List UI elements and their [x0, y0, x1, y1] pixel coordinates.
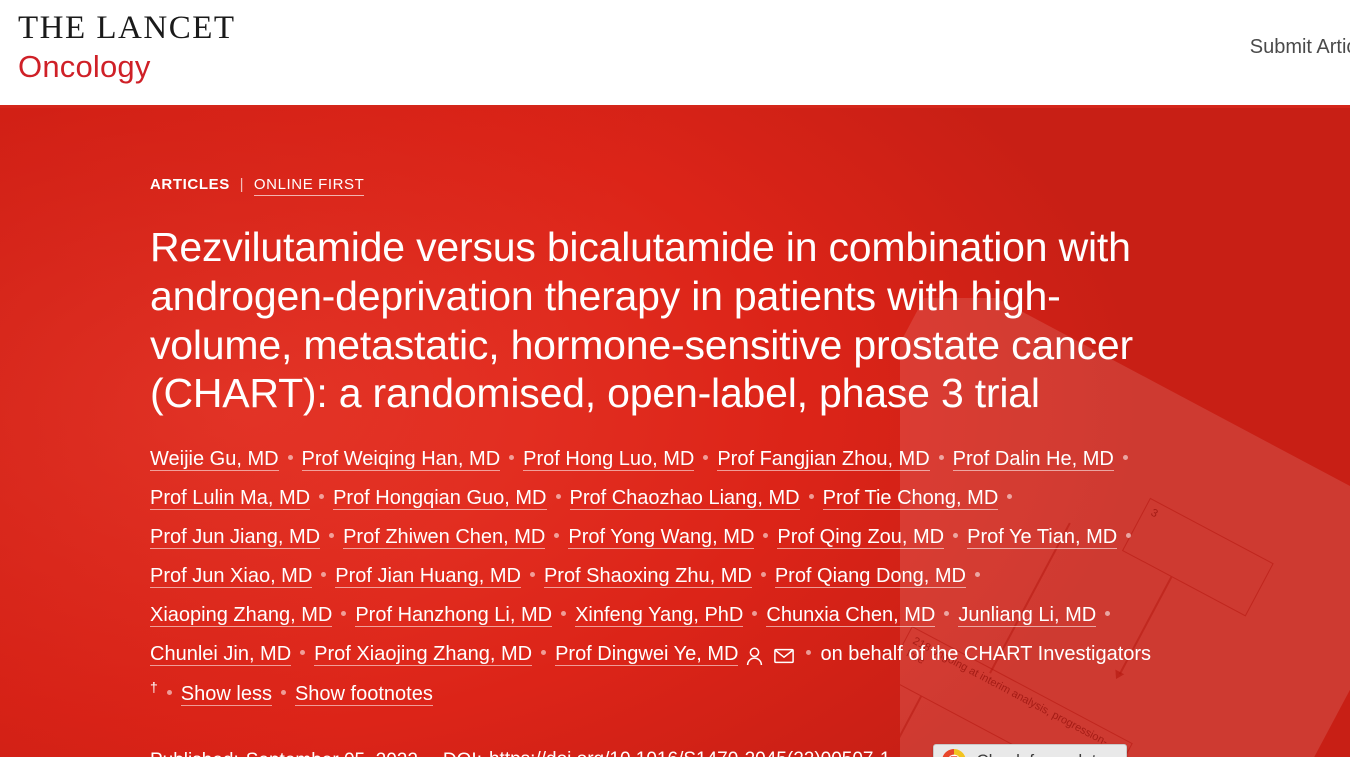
- author-link[interactable]: Prof Dalin He, MD: [953, 448, 1114, 471]
- author-separator-dot: [1105, 611, 1110, 616]
- header-nav: Submit Article: [1250, 0, 1350, 59]
- author-link[interactable]: Prof Yong Wang, MD: [568, 526, 754, 549]
- footnote-marker: †: [150, 679, 158, 695]
- author-link[interactable]: Prof Shaoxing Zhu, MD: [544, 565, 752, 588]
- author-link[interactable]: Xinfeng Yang, PhD: [575, 604, 743, 627]
- page-title: Rezvilutamide versus bicalutamide in com…: [150, 223, 1160, 418]
- author-separator-dot: [1007, 494, 1012, 499]
- author-link[interactable]: Prof Hong Luo, MD: [523, 448, 694, 471]
- published-date: September 05, 2022: [246, 750, 418, 757]
- group-authorship-text: on behalf of the CHART Investigators: [820, 643, 1151, 665]
- author-link[interactable]: Prof Jun Jiang, MD: [150, 526, 320, 549]
- author-link[interactable]: Prof Weiqing Han, MD: [302, 448, 501, 471]
- doi-link[interactable]: https://doi.org/10.1016/S1470-2045(22)00…: [489, 749, 890, 757]
- brand-the-lancet: THE LANCET: [18, 12, 236, 45]
- author-link[interactable]: Prof Hongqian Guo, MD: [333, 487, 546, 510]
- author-separator-dot: [300, 650, 305, 655]
- author-separator-dot: [341, 611, 346, 616]
- article-kicker: ARTICLES | ONLINE FIRST: [150, 176, 1160, 193]
- author-separator-dot: [809, 494, 814, 499]
- crossmark-logo-icon: [941, 748, 967, 757]
- kicker-section-label: ARTICLES: [150, 176, 230, 193]
- crossmark-check-for-updates-button[interactable]: Check for updates: [933, 744, 1127, 757]
- email-icon[interactable]: [774, 648, 794, 664]
- author-separator-dot: [561, 611, 566, 616]
- author-separator-dot: [761, 572, 766, 577]
- published-label: Published:: [150, 750, 239, 757]
- author-link[interactable]: Xiaoping Zhang, MD: [150, 604, 332, 627]
- author-separator-dot: [806, 650, 811, 655]
- author-link[interactable]: Prof Qiang Dong, MD: [775, 565, 966, 588]
- show-less-toggle[interactable]: Show less: [181, 683, 272, 706]
- author-separator-dot: [703, 455, 708, 460]
- author-link[interactable]: Prof Jun Xiao, MD: [150, 565, 312, 588]
- author-separator-dot: [975, 572, 980, 577]
- author-separator-dot: [319, 494, 324, 499]
- author-separator-dot: [1126, 533, 1131, 538]
- site-logo[interactable]: THE LANCET Oncology: [0, 0, 236, 82]
- author-link[interactable]: Chunxia Chen, MD: [766, 604, 935, 627]
- article-hero-banner: 3 218 ongoing at interim analysis, progr…: [0, 108, 1350, 757]
- author-link[interactable]: Weijie Gu, MD: [150, 448, 279, 471]
- author-link[interactable]: Prof Xiaojing Zhang, MD: [314, 643, 532, 666]
- author-link[interactable]: Chunlei Jin, MD: [150, 643, 291, 666]
- author-link[interactable]: Prof Zhiwen Chen, MD: [343, 526, 545, 549]
- person-icon[interactable]: [746, 647, 763, 666]
- brand-oncology: Oncology: [18, 51, 236, 82]
- author-separator-dot: [321, 572, 326, 577]
- publication-meta: Published: September 05, 2022 DOI: https…: [150, 744, 1160, 757]
- author-separator-dot: [167, 690, 172, 695]
- crossmark-label: Check for updates: [976, 751, 1114, 757]
- author-separator-dot: [944, 611, 949, 616]
- author-list: Weijie Gu, MDProf Weiqing Han, MDProf Ho…: [150, 440, 1160, 714]
- submit-article-link[interactable]: Submit Article: [1250, 36, 1350, 58]
- author-link[interactable]: Prof Tie Chong, MD: [823, 487, 999, 510]
- author-separator-dot: [288, 455, 293, 460]
- author-link[interactable]: Prof Ye Tian, MD: [967, 526, 1117, 549]
- author-link[interactable]: Prof Hanzhong Li, MD: [355, 604, 552, 627]
- show-footnotes-toggle[interactable]: Show footnotes: [295, 683, 433, 706]
- author-separator-dot: [556, 494, 561, 499]
- author-separator-dot: [939, 455, 944, 460]
- author-link[interactable]: Prof Fangjian Zhou, MD: [717, 448, 929, 471]
- author-separator-dot: [1123, 455, 1128, 460]
- author-separator-dot: [541, 650, 546, 655]
- author-separator-dot: [554, 533, 559, 538]
- site-header: THE LANCET Oncology Submit Article: [0, 0, 1350, 108]
- author-separator-dot: [530, 572, 535, 577]
- author-separator-dot: [281, 690, 286, 695]
- author-link[interactable]: Prof Qing Zou, MD: [777, 526, 944, 549]
- author-link[interactable]: Prof Lulin Ma, MD: [150, 487, 310, 510]
- author-link[interactable]: Prof Chaozhao Liang, MD: [570, 487, 800, 510]
- kicker-separator: |: [240, 176, 245, 193]
- doi-label: DOI:: [443, 750, 482, 757]
- author-separator-dot: [752, 611, 757, 616]
- author-separator-dot: [509, 455, 514, 460]
- author-link[interactable]: Prof Dingwei Ye, MD: [555, 643, 738, 666]
- author-separator-dot: [329, 533, 334, 538]
- author-link[interactable]: Prof Jian Huang, MD: [335, 565, 521, 588]
- author-link[interactable]: Junliang Li, MD: [958, 604, 1096, 627]
- online-first-link[interactable]: ONLINE FIRST: [254, 176, 365, 196]
- hero-content: ARTICLES | ONLINE FIRST Rezvilutamide ve…: [0, 108, 1160, 757]
- author-separator-dot: [763, 533, 768, 538]
- author-separator-dot: [953, 533, 958, 538]
